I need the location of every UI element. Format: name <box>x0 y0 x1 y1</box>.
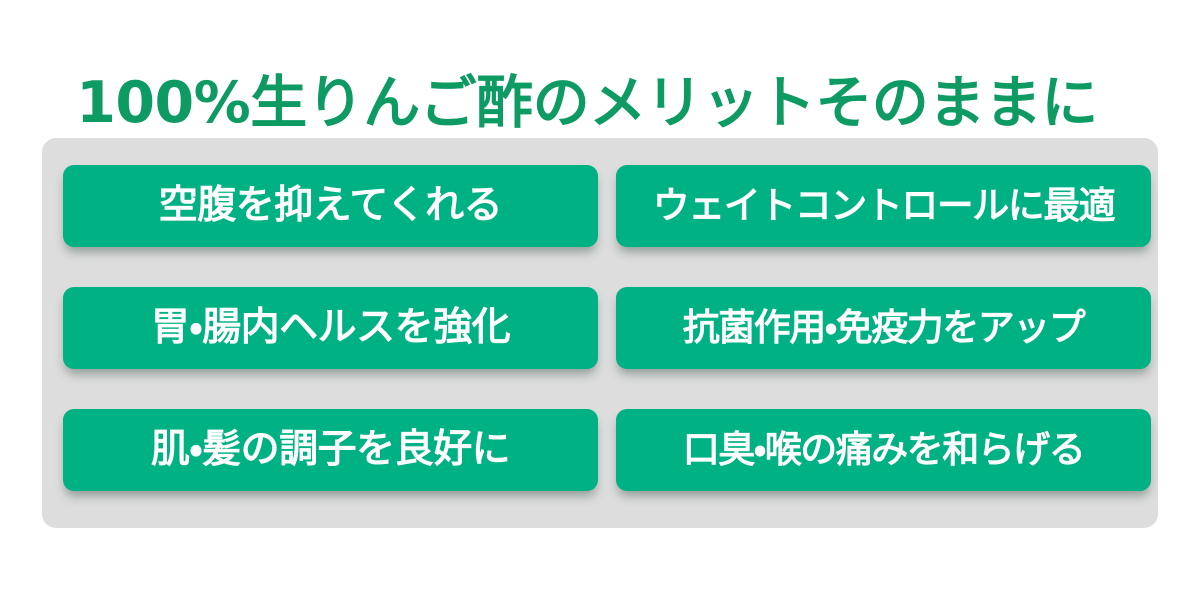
benefit-label: 口臭・喉の痛みを和らげる <box>683 428 1085 472</box>
benefit-label: 肌・髪の調子を良好に <box>151 428 510 472</box>
benefit-label: 胃・腸内ヘルスを強化 <box>151 306 510 350</box>
benefits-panel: 空腹を抑えてくれる ウェイトコントロールに最適 胃・腸内ヘルスを強化 抗菌作用・… <box>42 138 1158 528</box>
benefit-label: 空腹を抑えてくれる <box>159 184 502 228</box>
benefit-chip: 空腹を抑えてくれる <box>63 165 598 247</box>
benefit-chip: 肌・髪の調子を良好に <box>63 409 598 491</box>
benefit-chip: 胃・腸内ヘルスを強化 <box>63 287 598 369</box>
benefit-label: ウェイトコントロールに最適 <box>653 184 1115 228</box>
benefits-infographic: 100%生りんご酢のメリットそのままに 空腹を抑えてくれる ウェイトコントロール… <box>0 0 1200 610</box>
benefit-chip: 口臭・喉の痛みを和らげる <box>616 409 1151 491</box>
benefits-grid: 空腹を抑えてくれる ウェイトコントロールに最適 胃・腸内ヘルスを強化 抗菌作用・… <box>63 165 1151 491</box>
page-title: 100%生りんご酢のメリットそのままに <box>0 68 1174 138</box>
benefit-chip: ウェイトコントロールに最適 <box>616 165 1151 247</box>
benefit-label: 抗菌作用・免疫力をアップ <box>683 306 1085 350</box>
benefit-chip: 抗菌作用・免疫力をアップ <box>616 287 1151 369</box>
